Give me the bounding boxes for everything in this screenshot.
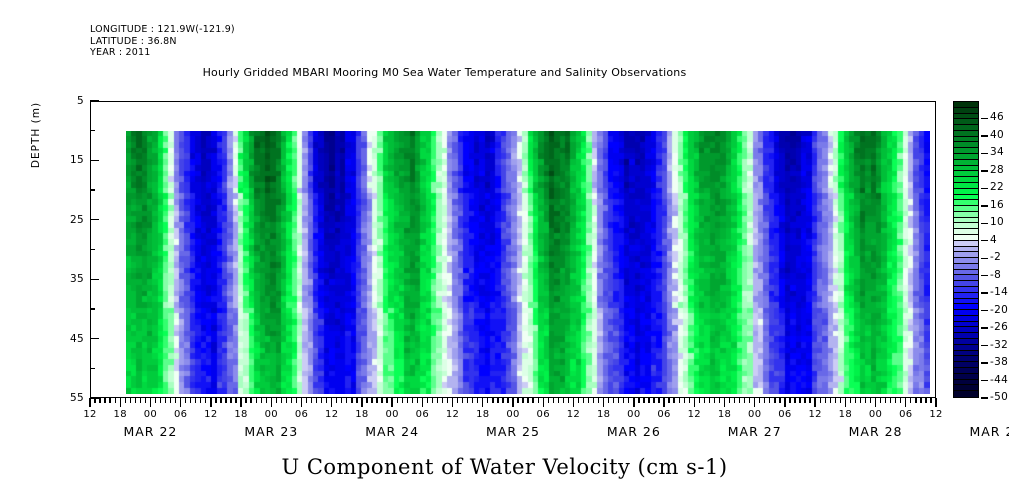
- x-tick-minor: [261, 398, 262, 403]
- x-tick-major: [573, 398, 574, 407]
- x-tick-major: [301, 398, 302, 407]
- x-axis-hour-label: 00: [861, 409, 891, 420]
- x-tick-minor: [900, 398, 901, 403]
- x-tick-minor: [185, 398, 186, 403]
- x-tick-minor: [417, 398, 418, 403]
- colorbar-tick: [981, 223, 988, 224]
- colorbar-tick-label: -32: [990, 339, 1008, 351]
- y-axis-depth-label: 45: [58, 333, 84, 345]
- colorbar-tick-label: 16: [990, 199, 1004, 211]
- x-tick-minor: [794, 398, 795, 403]
- x-tick-minor: [170, 398, 171, 403]
- colorbar-tick-label: 40: [990, 129, 1004, 141]
- x-tick-major: [724, 398, 725, 407]
- x-tick-minor: [608, 398, 609, 403]
- x-tick-minor: [880, 398, 881, 403]
- colorbar-tick-label: 4: [990, 234, 997, 246]
- x-tick-major: [875, 398, 876, 407]
- colorbar-tick: [981, 345, 988, 346]
- x-tick-minor: [487, 398, 488, 403]
- x-tick-major: [120, 398, 121, 407]
- x-tick-minor: [130, 398, 131, 403]
- x-axis-day-label: MAR 26: [574, 424, 694, 439]
- x-tick-minor: [638, 398, 639, 403]
- x-tick-minor: [709, 398, 710, 403]
- x-tick-minor: [502, 398, 503, 403]
- x-tick-minor: [613, 398, 614, 403]
- x-axis-hour-label: 06: [891, 409, 921, 420]
- y-tick-major: [90, 100, 99, 101]
- y-axis-depth-label: 55: [58, 392, 84, 404]
- colorbar-tick-label: -44: [990, 374, 1008, 386]
- x-tick-major: [845, 398, 846, 407]
- x-tick-minor: [668, 398, 669, 403]
- x-tick-minor: [684, 398, 685, 403]
- x-tick-minor: [588, 398, 589, 403]
- x-tick-minor: [578, 398, 579, 403]
- x-tick-minor: [563, 398, 564, 403]
- x-axis-hour-label: 12: [800, 409, 830, 420]
- colorbar-cell: [954, 391, 978, 397]
- x-tick-minor: [467, 398, 468, 403]
- y-tick-minor: [90, 189, 95, 190]
- x-tick-minor: [381, 398, 382, 403]
- x-tick-minor: [759, 398, 760, 403]
- x-tick-minor: [256, 398, 257, 403]
- x-tick-major: [150, 398, 151, 407]
- heatmap-data-region: [126, 131, 930, 394]
- x-tick-minor: [870, 398, 871, 403]
- x-tick-minor: [925, 398, 926, 403]
- x-tick-minor: [125, 398, 126, 403]
- chart-title: Hourly Gridded MBARI Mooring M0 Sea Wate…: [0, 66, 1009, 79]
- x-tick-minor: [809, 398, 810, 403]
- x-axis-hour-label: 18: [710, 409, 740, 420]
- x-axis-hour-label: 06: [287, 409, 317, 420]
- x-tick-minor: [714, 398, 715, 403]
- colorbar-tick-label: -20: [990, 304, 1008, 316]
- x-tick-minor: [920, 398, 921, 403]
- colorbar-tick-label: 22: [990, 181, 1004, 193]
- x-tick-minor: [225, 398, 226, 403]
- x-tick-minor: [351, 398, 352, 403]
- x-tick-minor: [789, 398, 790, 403]
- latitude-text: LATITUDE : 36.8N: [90, 36, 235, 48]
- x-tick-minor: [115, 398, 116, 403]
- x-tick-minor: [402, 398, 403, 403]
- x-tick-minor: [517, 398, 518, 403]
- variable-title: U Component of Water Velocity (cm s-1): [0, 455, 1009, 479]
- x-tick-minor: [376, 398, 377, 403]
- y-tick-minor: [90, 249, 95, 250]
- x-tick-minor: [598, 398, 599, 403]
- x-axis-hour-label: 12: [196, 409, 226, 420]
- heatmap-canvas: [126, 131, 930, 394]
- x-tick-minor: [215, 398, 216, 403]
- x-tick-minor: [245, 398, 246, 403]
- x-tick-major: [512, 398, 513, 407]
- x-tick-minor: [532, 398, 533, 403]
- x-tick-minor: [840, 398, 841, 403]
- x-axis-hour-label: 12: [317, 409, 347, 420]
- chart-title-text: Hourly Gridded MBARI Mooring M0 Sea Wate…: [203, 66, 687, 79]
- x-tick-minor: [522, 398, 523, 403]
- x-tick-major: [754, 398, 755, 407]
- colorbar-tick-label: -38: [990, 356, 1008, 368]
- y-tick-major: [90, 397, 99, 398]
- x-axis-hour-label: 12: [438, 409, 468, 420]
- colorbar-tick: [981, 275, 988, 276]
- colorbar-tick: [981, 135, 988, 136]
- x-tick-major: [422, 398, 423, 407]
- x-tick-minor: [336, 398, 337, 403]
- x-axis-hour-label: 00: [740, 409, 770, 420]
- y-axis-depth-label: 15: [58, 154, 84, 166]
- x-axis-hour-label: 06: [407, 409, 437, 420]
- x-tick-minor: [492, 398, 493, 403]
- colorbar-tick-label: -14: [990, 286, 1008, 298]
- x-tick-minor: [548, 398, 549, 403]
- x-tick-minor: [679, 398, 680, 403]
- x-axis-hour-label: 06: [166, 409, 196, 420]
- x-tick-minor: [326, 398, 327, 403]
- x-tick-minor: [830, 398, 831, 403]
- x-tick-minor: [346, 398, 347, 403]
- x-tick-minor: [538, 398, 539, 403]
- x-tick-minor: [442, 398, 443, 403]
- x-axis-hour-label: 06: [528, 409, 558, 420]
- x-tick-minor: [653, 398, 654, 403]
- x-tick-minor: [311, 398, 312, 403]
- x-tick-major: [905, 398, 906, 407]
- year-text: YEAR : 2011: [90, 47, 235, 59]
- x-tick-minor: [779, 398, 780, 403]
- y-tick-minor: [90, 308, 95, 309]
- x-tick-minor: [764, 398, 765, 403]
- x-tick-minor: [356, 398, 357, 403]
- x-tick-minor: [658, 398, 659, 403]
- x-tick-minor: [160, 398, 161, 403]
- x-tick-minor: [648, 398, 649, 403]
- x-tick-major: [663, 398, 664, 407]
- colorbar-tick-label: 46: [990, 111, 1004, 123]
- x-tick-minor: [371, 398, 372, 403]
- x-tick-minor: [200, 398, 201, 403]
- x-axis-day-label: MAR 29: [936, 424, 1009, 439]
- colorbar-tick-label: -50: [990, 391, 1008, 403]
- x-axis-hour-label: 00: [619, 409, 649, 420]
- y-tick-major: [90, 219, 99, 220]
- colorbar-tick: [981, 362, 988, 363]
- x-tick-minor: [865, 398, 866, 403]
- x-tick-minor: [366, 398, 367, 403]
- x-axis-day-label: MAR 22: [90, 424, 210, 439]
- colorbar-tick: [981, 170, 988, 171]
- x-tick-minor: [618, 398, 619, 403]
- x-tick-minor: [291, 398, 292, 403]
- x-axis-day-label: MAR 27: [695, 424, 815, 439]
- colorbar-tick: [981, 327, 988, 328]
- x-axis-hour-label: 18: [589, 409, 619, 420]
- x-tick-minor: [306, 398, 307, 403]
- x-tick-minor: [296, 398, 297, 403]
- x-tick-minor: [623, 398, 624, 403]
- x-tick-minor: [437, 398, 438, 403]
- x-tick-minor: [568, 398, 569, 403]
- colorbar-tick: [981, 153, 988, 154]
- y-tick-minor: [90, 130, 95, 131]
- x-tick-major: [331, 398, 332, 407]
- x-tick-minor: [593, 398, 594, 403]
- x-tick-minor: [850, 398, 851, 403]
- x-tick-minor: [145, 398, 146, 403]
- x-tick-minor: [820, 398, 821, 403]
- x-axis-hour-label: 00: [377, 409, 407, 420]
- x-tick-minor: [704, 398, 705, 403]
- x-tick-minor: [769, 398, 770, 403]
- x-tick-minor: [744, 398, 745, 403]
- y-tick-minor: [90, 368, 95, 369]
- x-tick-minor: [220, 398, 221, 403]
- x-tick-minor: [195, 398, 196, 403]
- colorbar-tick: [981, 240, 988, 241]
- x-tick-minor: [910, 398, 911, 403]
- x-tick-minor: [104, 398, 105, 403]
- x-tick-minor: [427, 398, 428, 403]
- x-axis-hour-label: 00: [498, 409, 528, 420]
- colorbar-tick: [981, 118, 988, 119]
- x-tick-minor: [397, 398, 398, 403]
- y-tick-major: [90, 160, 99, 161]
- x-tick-major: [361, 398, 362, 407]
- x-tick-minor: [774, 398, 775, 403]
- colorbar-tick-label: -8: [990, 269, 1001, 281]
- x-axis-day-label: MAR 28: [816, 424, 936, 439]
- x-axis-hour-label: 12: [679, 409, 709, 420]
- x-axis-day-label: MAR 24: [332, 424, 452, 439]
- x-tick-minor: [749, 398, 750, 403]
- x-tick-major: [633, 398, 634, 407]
- x-axis-hour-label: 12: [558, 409, 588, 420]
- colorbar-tick: [981, 188, 988, 189]
- x-tick-minor: [915, 398, 916, 403]
- x-tick-minor: [175, 398, 176, 403]
- x-tick-minor: [895, 398, 896, 403]
- colorbar-tick: [981, 292, 988, 293]
- y-tick-major: [90, 338, 99, 339]
- x-tick-minor: [729, 398, 730, 403]
- x-tick-minor: [673, 398, 674, 403]
- x-tick-minor: [643, 398, 644, 403]
- x-tick-major: [271, 398, 272, 407]
- x-tick-minor: [558, 398, 559, 403]
- x-tick-major: [240, 398, 241, 407]
- x-tick-minor: [628, 398, 629, 403]
- x-tick-minor: [341, 398, 342, 403]
- x-tick-minor: [799, 398, 800, 403]
- x-tick-minor: [890, 398, 891, 403]
- x-tick-minor: [472, 398, 473, 403]
- x-tick-minor: [447, 398, 448, 403]
- x-axis-hour-label: 18: [226, 409, 256, 420]
- y-tick-major: [90, 279, 99, 280]
- x-tick-major: [694, 398, 695, 407]
- x-axis-hour-label: 12: [75, 409, 105, 420]
- x-tick-major: [391, 398, 392, 407]
- y-axis-depth-label: 25: [58, 214, 84, 226]
- x-tick-minor: [462, 398, 463, 403]
- x-axis-hour-label: 18: [347, 409, 377, 420]
- x-tick-minor: [412, 398, 413, 403]
- x-tick-minor: [497, 398, 498, 403]
- x-tick-minor: [316, 398, 317, 403]
- colorbar-tick: [981, 205, 988, 206]
- longitude-text: LONGITUDE : 121.9W(-121.9): [90, 24, 235, 36]
- x-tick-minor: [457, 398, 458, 403]
- x-axis-hour-label: 18: [105, 409, 135, 420]
- x-tick-major: [452, 398, 453, 407]
- x-tick-minor: [235, 398, 236, 403]
- x-axis-hour-label: 06: [770, 409, 800, 420]
- x-tick-minor: [734, 398, 735, 403]
- x-axis-hour-label: 18: [830, 409, 860, 420]
- x-tick-major: [603, 398, 604, 407]
- x-tick-minor: [230, 398, 231, 403]
- x-axis-hour-label: 12: [921, 409, 951, 420]
- x-tick-minor: [250, 398, 251, 403]
- x-tick-minor: [407, 398, 408, 403]
- x-tick-major: [814, 398, 815, 407]
- x-tick-minor: [99, 398, 100, 403]
- x-tick-minor: [432, 398, 433, 403]
- x-tick-minor: [689, 398, 690, 403]
- x-tick-minor: [930, 398, 931, 403]
- x-tick-minor: [266, 398, 267, 403]
- x-axis-day-label: MAR 23: [211, 424, 331, 439]
- x-tick-minor: [109, 398, 110, 403]
- x-tick-minor: [205, 398, 206, 403]
- x-tick-minor: [94, 398, 95, 403]
- x-tick-major: [784, 398, 785, 407]
- x-tick-minor: [825, 398, 826, 403]
- x-axis-hour-label: 06: [649, 409, 679, 420]
- x-tick-minor: [276, 398, 277, 403]
- x-axis-hour-label: 00: [135, 409, 165, 420]
- colorbar-tick: [981, 258, 988, 259]
- x-tick-minor: [321, 398, 322, 403]
- colorbar-tick-label: 10: [990, 216, 1004, 228]
- x-tick-major: [180, 398, 181, 407]
- x-tick-minor: [860, 398, 861, 403]
- x-tick-minor: [855, 398, 856, 403]
- x-tick-major: [89, 398, 90, 407]
- y-axis-title: DEPTH (m): [30, 75, 42, 195]
- x-tick-major: [935, 398, 936, 407]
- x-tick-minor: [190, 398, 191, 403]
- x-tick-major: [482, 398, 483, 407]
- x-tick-minor: [281, 398, 282, 403]
- x-tick-minor: [155, 398, 156, 403]
- colorbar-tick-label: 34: [990, 146, 1004, 158]
- x-tick-minor: [135, 398, 136, 403]
- x-tick-minor: [507, 398, 508, 403]
- y-axis-depth-label: 5: [58, 95, 84, 107]
- colorbar-tick: [981, 380, 988, 381]
- x-tick-minor: [553, 398, 554, 403]
- x-tick-minor: [386, 398, 387, 403]
- x-tick-minor: [165, 398, 166, 403]
- colorbar-tick-label: 28: [990, 164, 1004, 176]
- x-tick-minor: [583, 398, 584, 403]
- x-tick-minor: [699, 398, 700, 403]
- x-tick-minor: [477, 398, 478, 403]
- x-tick-major: [210, 398, 211, 407]
- x-tick-minor: [885, 398, 886, 403]
- x-axis-hour-label: 18: [468, 409, 498, 420]
- x-tick-minor: [835, 398, 836, 403]
- x-tick-minor: [719, 398, 720, 403]
- x-tick-major: [543, 398, 544, 407]
- x-tick-minor: [527, 398, 528, 403]
- colorbar: [953, 101, 979, 398]
- x-tick-minor: [804, 398, 805, 403]
- colorbar-tick-label: -26: [990, 321, 1008, 333]
- y-axis-depth-label: 35: [58, 273, 84, 285]
- metadata-block: LONGITUDE : 121.9W(-121.9) LATITUDE : 36…: [90, 24, 235, 59]
- colorbar-tick: [981, 397, 988, 398]
- colorbar-tick: [981, 310, 988, 311]
- x-tick-minor: [739, 398, 740, 403]
- colorbar-tick-label: -2: [990, 251, 1001, 263]
- x-tick-minor: [286, 398, 287, 403]
- x-tick-minor: [140, 398, 141, 403]
- x-axis-day-label: MAR 25: [453, 424, 573, 439]
- x-axis-hour-label: 00: [256, 409, 286, 420]
